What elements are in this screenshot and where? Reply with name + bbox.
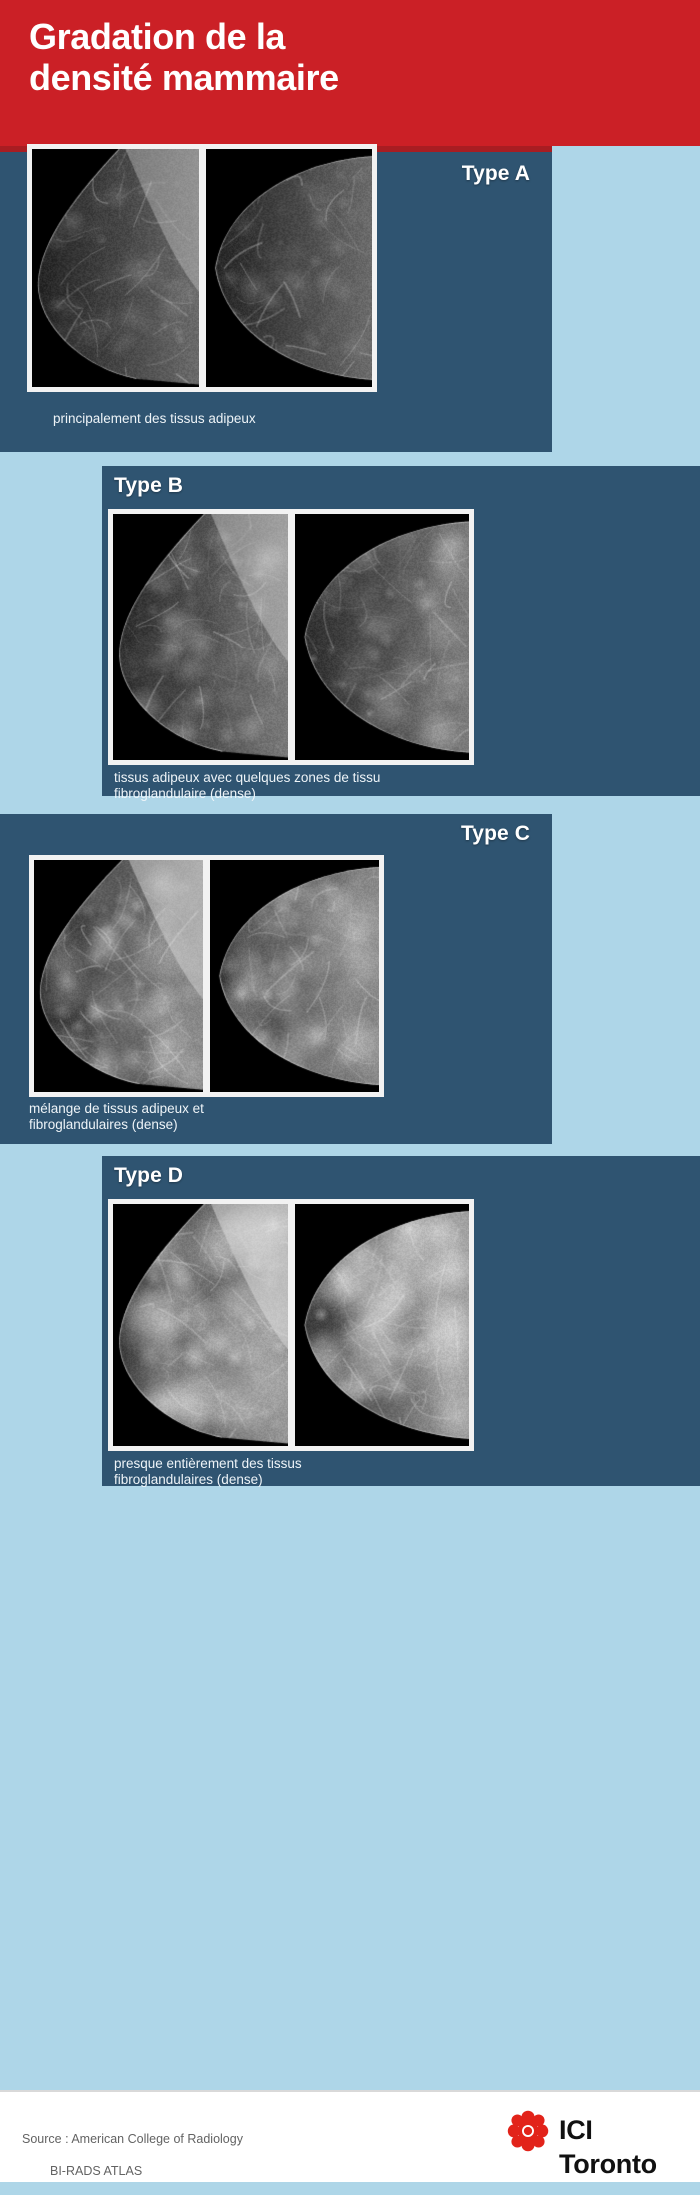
section-caption-type-a: principalement des tissus adipeux — [53, 411, 523, 427]
source-line-1: Source : American College of Radiology — [22, 2132, 243, 2146]
section-title-type-c: Type C — [461, 822, 530, 846]
section-title-type-a: Type A — [462, 162, 530, 186]
section-title-type-d: Type D — [114, 1164, 183, 1188]
mammogram-type-b-cc — [295, 514, 470, 760]
image-pair-type-c — [29, 855, 384, 1097]
mammogram-type-d-mlo — [113, 1204, 288, 1446]
section-caption-type-b: tissus adipeux avec quelques zones de ti… — [114, 770, 594, 802]
page-title: Gradation de la densité mammaire — [29, 16, 669, 98]
cbc-gem-icon — [505, 2108, 551, 2154]
mammogram-type-d-cc — [295, 1204, 470, 1446]
section-caption-type-d: presque entièrement des tissus fibroglan… — [114, 1456, 594, 1488]
section-caption-type-c: mélange de tissus adipeux et fibroglandu… — [29, 1101, 499, 1133]
page-header: Gradation de la densité mammaire — [0, 0, 700, 146]
image-pair-type-a — [27, 144, 377, 392]
mammogram-type-c-mlo — [34, 860, 203, 1092]
mammogram-type-c-cc — [210, 860, 379, 1092]
source-credit: Source : American College of Radiology B… — [22, 2115, 243, 2195]
source-line-2: BI-RADS ATLAS — [22, 2163, 243, 2179]
brand-logo: ICI Toronto — [505, 2108, 685, 2154]
logo-wordmark: ICI Toronto — [559, 2113, 685, 2181]
image-pair-type-d — [108, 1199, 474, 1451]
mammogram-type-a-cc — [206, 149, 373, 387]
mammogram-type-b-mlo — [113, 514, 288, 760]
mammogram-type-a-mlo — [32, 149, 199, 387]
image-pair-type-b — [108, 509, 474, 765]
section-title-type-b: Type B — [114, 474, 183, 498]
